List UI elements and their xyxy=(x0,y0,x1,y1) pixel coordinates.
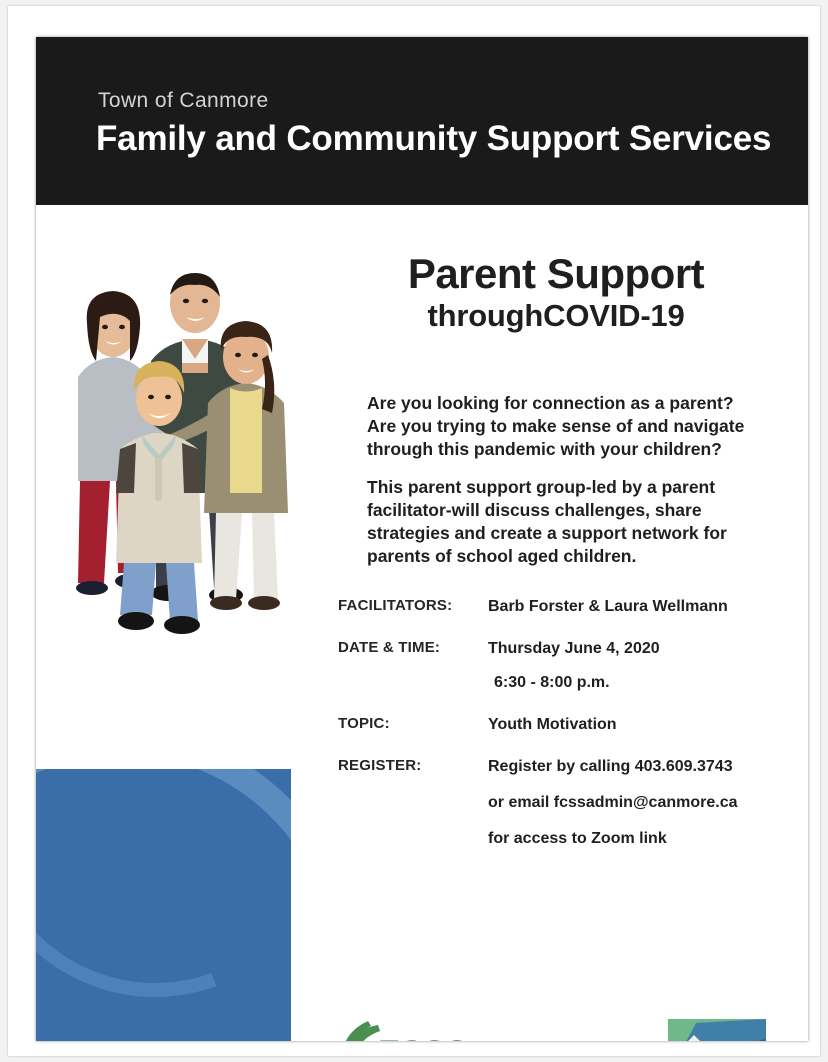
detail-value: 6:30 - 8:00 p.m. xyxy=(488,673,768,693)
detail-label: TOPIC: xyxy=(338,715,488,732)
detail-value-phone[interactable]: Register by calling 403.609.3743 xyxy=(488,757,768,777)
svg-text:FCSS: FCSS xyxy=(378,1034,467,1041)
header-title: Family and Community Support Services xyxy=(96,119,771,159)
detail-value-note: for access to Zoom link xyxy=(488,829,768,849)
detail-values: Thursday June 4, 2020 6:30 - 8:00 p.m. xyxy=(488,639,768,693)
family-photo-illustration xyxy=(56,243,306,635)
page-sheet: Town of Canmore Family and Community Sup… xyxy=(8,6,820,1056)
poster: Town of Canmore Family and Community Sup… xyxy=(36,37,808,1041)
detail-value: Youth Motivation xyxy=(488,715,768,735)
body-paragraph: This parent support group-led by a paren… xyxy=(367,476,755,567)
detail-values: Youth Motivation xyxy=(488,715,768,735)
hero-title-block: Parent Support throughCOVID-19 xyxy=(336,253,776,334)
fcss-logo-mark: FCSS Family and Community Support Servic… xyxy=(334,1017,539,1041)
canmore-logo: Town of CANMORE xyxy=(576,1017,776,1041)
detail-label: FACILITATORS: xyxy=(338,597,488,614)
detail-values: Register by calling 403.609.3743 or emai… xyxy=(488,757,768,849)
detail-value-email[interactable]: or email fcssadmin@canmore.ca xyxy=(488,793,768,813)
blue-swirl-panel xyxy=(36,769,291,1041)
detail-values: Barb Forster & Laura Wellmann xyxy=(488,597,768,617)
detail-row-topic: TOPIC: Youth Motivation xyxy=(338,715,768,735)
detail-row-date-time: DATE & TIME: Thursday June 4, 2020 6:30 … xyxy=(338,639,768,693)
body-paragraph: Are you looking for connection as a pare… xyxy=(367,392,755,460)
page-subtitle: throughCOVID-19 xyxy=(336,298,776,334)
content-sheet: www.canmore.ca COMMUNITY SOCIAL DEVELOPM… xyxy=(36,205,808,1041)
header-band: Town of Canmore Family and Community Sup… xyxy=(36,37,808,205)
page-title: Parent Support xyxy=(336,253,776,296)
event-details: FACILITATORS: Barb Forster & Laura Wellm… xyxy=(338,597,768,871)
detail-row-facilitators: FACILITATORS: Barb Forster & Laura Wellm… xyxy=(338,597,768,617)
scan-frame: Town of Canmore Family and Community Sup… xyxy=(0,0,828,1062)
body-copy: Are you looking for connection as a pare… xyxy=(367,392,755,583)
detail-label: DATE & TIME: xyxy=(338,639,488,656)
header-eyebrow: Town of Canmore xyxy=(98,89,269,113)
family-photo xyxy=(56,243,306,635)
detail-value: Thursday June 4, 2020 xyxy=(488,639,768,659)
detail-value: Barb Forster & Laura Wellmann xyxy=(488,597,768,617)
canmore-mountain-icon xyxy=(576,1017,776,1041)
detail-row-register: REGISTER: Register by calling 403.609.37… xyxy=(338,757,768,849)
fcss-logo: FCSS Family and Community Support Servic… xyxy=(334,1017,539,1041)
detail-label: REGISTER: xyxy=(338,757,488,774)
